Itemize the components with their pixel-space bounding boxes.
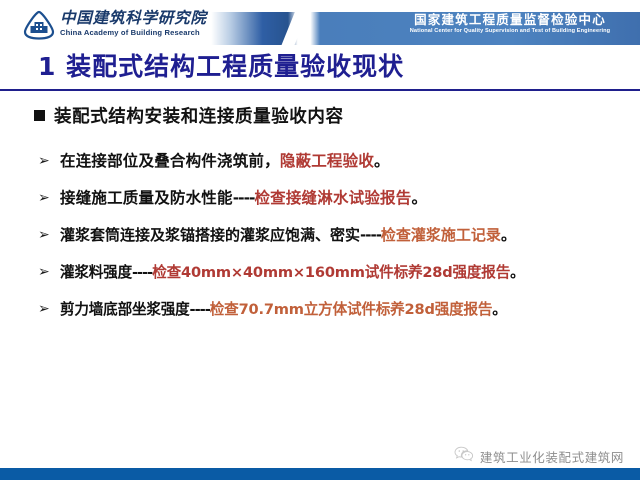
center-org-block: 国家建筑工程质量监督检验中心 National Center for Quali… <box>388 14 632 34</box>
left-org-name-cn: 中国建筑科学研究院 <box>60 11 207 27</box>
item-lead-text: 剪力墙底部坐浆强度 <box>60 301 190 318</box>
item-tail-text: 。 <box>501 226 516 244</box>
acceptance-items-list: ➢在连接部位及叠合构件浇筑前，隐蔽工程验收。 ➢接缝施工质量及防水性能----检… <box>0 143 640 328</box>
list-item: ➢灌浆套筒连接及浆锚搭接的灌浆应饱满、密实----检查灌浆施工记录。 <box>38 217 640 254</box>
left-org-name-en: China Academy of Building Research <box>60 29 207 37</box>
center-org-name-en: National Center for Quality Supervision … <box>388 29 632 35</box>
footer-watermark: 建筑工业化装配式建筑网 <box>454 446 624 466</box>
section-subheading: 装配式结构安装和连接质量验收内容 <box>34 104 640 130</box>
item-tail-text: 。 <box>492 301 506 318</box>
item-dash: ---- <box>190 301 210 318</box>
square-bullet-icon <box>34 110 45 121</box>
section-subheading-label: 装配式结构安装和连接质量验收内容 <box>54 107 344 127</box>
arrow-bullet-icon: ➢ <box>38 217 50 254</box>
left-org-block: 中国建筑科学研究院 China Academy of Building Rese… <box>60 11 207 36</box>
list-item: ➢接缝施工质量及防水性能----检查接缝淋水试验报告。 <box>38 180 640 217</box>
list-item: ➢在连接部位及叠合构件浇筑前，隐蔽工程验收。 <box>38 143 640 180</box>
bottom-accent-bar <box>0 468 640 480</box>
center-org-name-cn: 国家建筑工程质量监督检验中心 <box>388 14 632 27</box>
item-lead-text: 在连接部位及叠合构件浇筑前， <box>60 152 280 170</box>
item-tail-text: 。 <box>411 189 427 207</box>
wechat-icon <box>454 446 474 466</box>
list-item: ➢灌浆料强度----检查40mm×40mm×160mm试件标养28d强度报告。 <box>38 254 640 291</box>
item-dash: ---- <box>360 226 381 244</box>
arrow-bullet-icon: ➢ <box>38 254 50 291</box>
item-dash: ---- <box>233 189 255 207</box>
item-highlight-text: 检查灌浆施工记录 <box>381 226 501 244</box>
item-tail-text: 。 <box>374 152 390 170</box>
page-title: 1 装配式结构工程质量验收现状 <box>38 49 404 85</box>
item-highlight-text: 检查70.7mm立方体试件标养28d强度报告 <box>210 301 493 318</box>
item-highlight-text: 隐蔽工程验收 <box>280 152 374 170</box>
list-item: ➢剪力墙底部坐浆强度----检查70.7mm立方体试件标养28d强度报告。 <box>38 291 640 328</box>
item-highlight-text: 检查40mm×40mm×160mm试件标养28d强度报告 <box>152 264 510 281</box>
item-lead-text: 接缝施工质量及防水性能 <box>60 189 233 207</box>
watermark-label: 建筑工业化装配式建筑网 <box>480 447 624 466</box>
arrow-bullet-icon: ➢ <box>38 180 50 217</box>
item-lead-text: 灌浆料强度 <box>60 264 132 281</box>
title-divider-rule <box>0 89 640 91</box>
item-highlight-text: 检查接缝淋水试验报告 <box>254 189 411 207</box>
item-tail-text: 。 <box>510 264 524 281</box>
slide-canvas: 中国建筑科学研究院 China Academy of Building Rese… <box>0 0 640 480</box>
arrow-bullet-icon: ➢ <box>38 143 50 180</box>
academy-emblem-icon <box>22 10 56 40</box>
slide-body: 装配式结构安装和连接质量验收内容 ➢在连接部位及叠合构件浇筑前，隐蔽工程验收。 … <box>0 98 640 328</box>
arrow-bullet-icon: ➢ <box>38 291 50 328</box>
title-area: 1 装配式结构工程质量验收现状 <box>0 49 640 91</box>
slide-header: 中国建筑科学研究院 China Academy of Building Rese… <box>0 0 640 48</box>
item-dash: ---- <box>132 264 152 281</box>
item-lead-text: 灌浆套筒连接及浆锚搭接的灌浆应饱满、密实 <box>60 226 360 244</box>
